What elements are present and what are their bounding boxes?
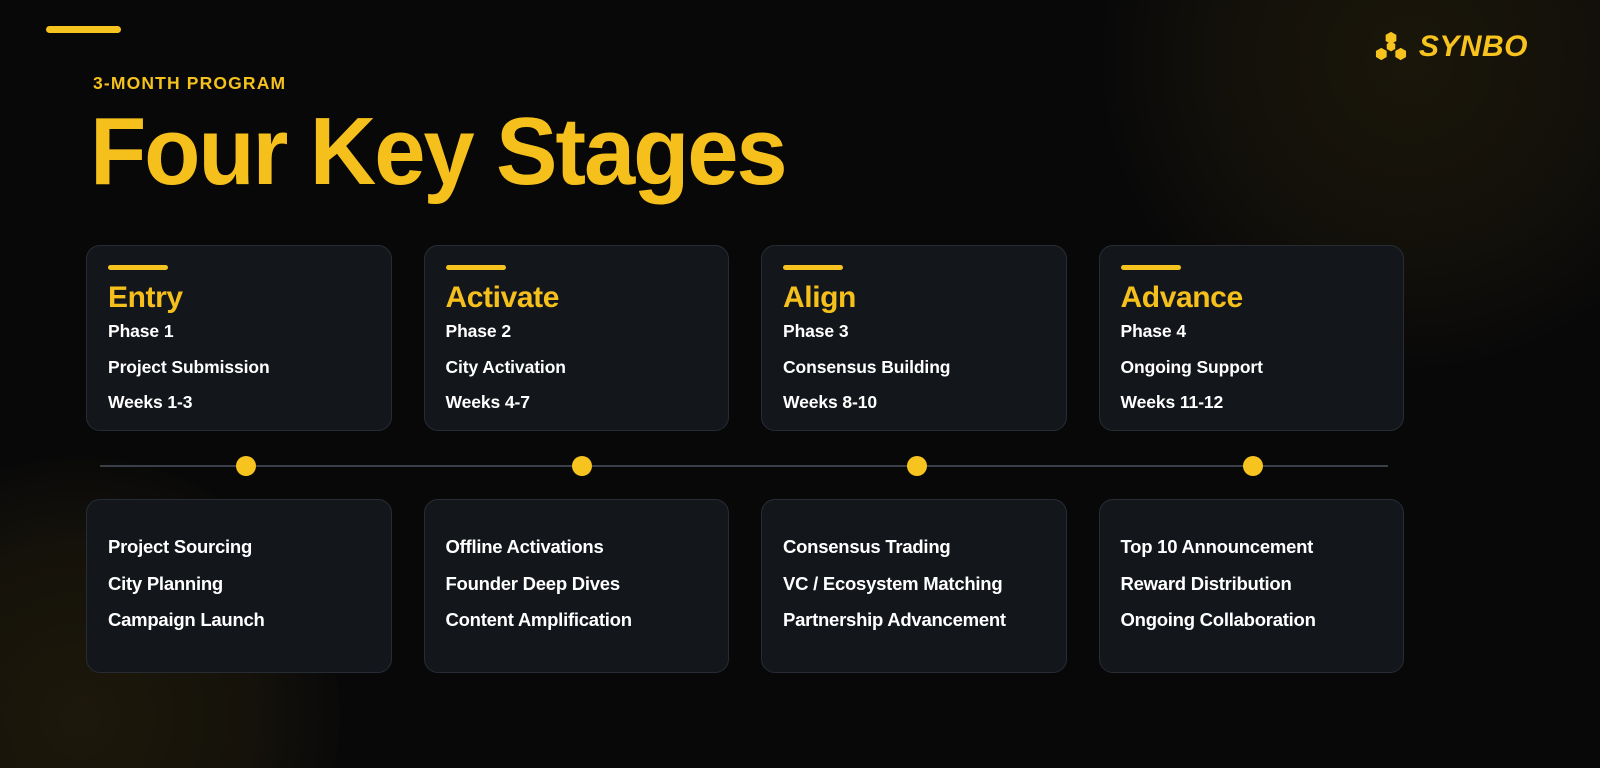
stage-weeks: Weeks 8-10 xyxy=(783,394,1045,412)
card-accent-bar xyxy=(108,265,168,270)
timeline-dot-3[interactable] xyxy=(907,456,927,476)
activity-card-align[interactable]: Consensus Trading VC / Ecosystem Matchin… xyxy=(761,499,1067,673)
activity-item: Partnership Advancement xyxy=(783,611,1045,630)
stage-focus: Project Submission xyxy=(108,359,370,377)
activity-item: Reward Distribution xyxy=(1121,575,1383,594)
page-title: Four Key Stages xyxy=(90,104,786,200)
stage-cards-row: Entry Phase 1 Project Submission Weeks 1… xyxy=(86,245,1404,431)
brand-name: SYNBO xyxy=(1419,30,1528,64)
stage-phase: Phase 1 xyxy=(108,323,370,341)
stage-focus: City Activation xyxy=(446,359,708,377)
activity-card-activate[interactable]: Offline Activations Founder Deep Dives C… xyxy=(424,499,730,673)
activity-item: Project Sourcing xyxy=(108,538,370,557)
slide-canvas: SYNBO 3-MONTH PROGRAM Four Key Stages En… xyxy=(0,0,1600,768)
stage-weeks: Weeks 1-3 xyxy=(108,394,370,412)
activity-cards-row: Project Sourcing City Planning Campaign … xyxy=(86,499,1404,673)
stage-weeks: Weeks 11-12 xyxy=(1121,394,1383,412)
activity-item: Ongoing Collaboration xyxy=(1121,611,1383,630)
card-accent-bar xyxy=(1121,265,1181,270)
activity-item: VC / Ecosystem Matching xyxy=(783,575,1045,594)
activity-card-advance[interactable]: Top 10 Announcement Reward Distribution … xyxy=(1099,499,1405,673)
top-accent-bar xyxy=(46,26,121,33)
stage-focus: Consensus Building xyxy=(783,359,1045,377)
timeline-rail xyxy=(100,465,1388,467)
stage-card-advance[interactable]: Advance Phase 4 Ongoing Support Weeks 11… xyxy=(1099,245,1405,431)
activity-item: Offline Activations xyxy=(446,538,708,557)
activity-item: Content Amplification xyxy=(446,611,708,630)
stage-title: Activate xyxy=(446,281,708,314)
activity-item: Consensus Trading xyxy=(783,538,1045,557)
stage-title: Entry xyxy=(108,281,370,314)
stage-title: Align xyxy=(783,281,1045,314)
stage-focus: Ongoing Support xyxy=(1121,359,1383,377)
stage-card-entry[interactable]: Entry Phase 1 Project Submission Weeks 1… xyxy=(86,245,392,431)
activity-card-entry[interactable]: Project Sourcing City Planning Campaign … xyxy=(86,499,392,673)
stage-card-activate[interactable]: Activate Phase 2 City Activation Weeks 4… xyxy=(424,245,730,431)
card-accent-bar xyxy=(783,265,843,270)
activity-item: City Planning xyxy=(108,575,370,594)
timeline-connector xyxy=(100,464,1388,468)
timeline-dot-4[interactable] xyxy=(1243,456,1263,476)
card-accent-bar xyxy=(446,265,506,270)
stage-card-align[interactable]: Align Phase 3 Consensus Building Weeks 8… xyxy=(761,245,1067,431)
activity-item: Founder Deep Dives xyxy=(446,575,708,594)
stage-weeks: Weeks 4-7 xyxy=(446,394,708,412)
page-eyebrow: 3-MONTH PROGRAM xyxy=(93,73,286,94)
stage-phase: Phase 2 xyxy=(446,323,708,341)
stage-phase: Phase 3 xyxy=(783,323,1045,341)
molecule-hexagon-cluster-icon xyxy=(1374,30,1408,64)
timeline-dot-1[interactable] xyxy=(236,456,256,476)
stage-phase: Phase 4 xyxy=(1121,323,1383,341)
timeline-dot-2[interactable] xyxy=(572,456,592,476)
activity-item: Campaign Launch xyxy=(108,611,370,630)
brand-logo: SYNBO xyxy=(1374,30,1528,64)
activity-item: Top 10 Announcement xyxy=(1121,538,1383,557)
stage-title: Advance xyxy=(1121,281,1383,314)
